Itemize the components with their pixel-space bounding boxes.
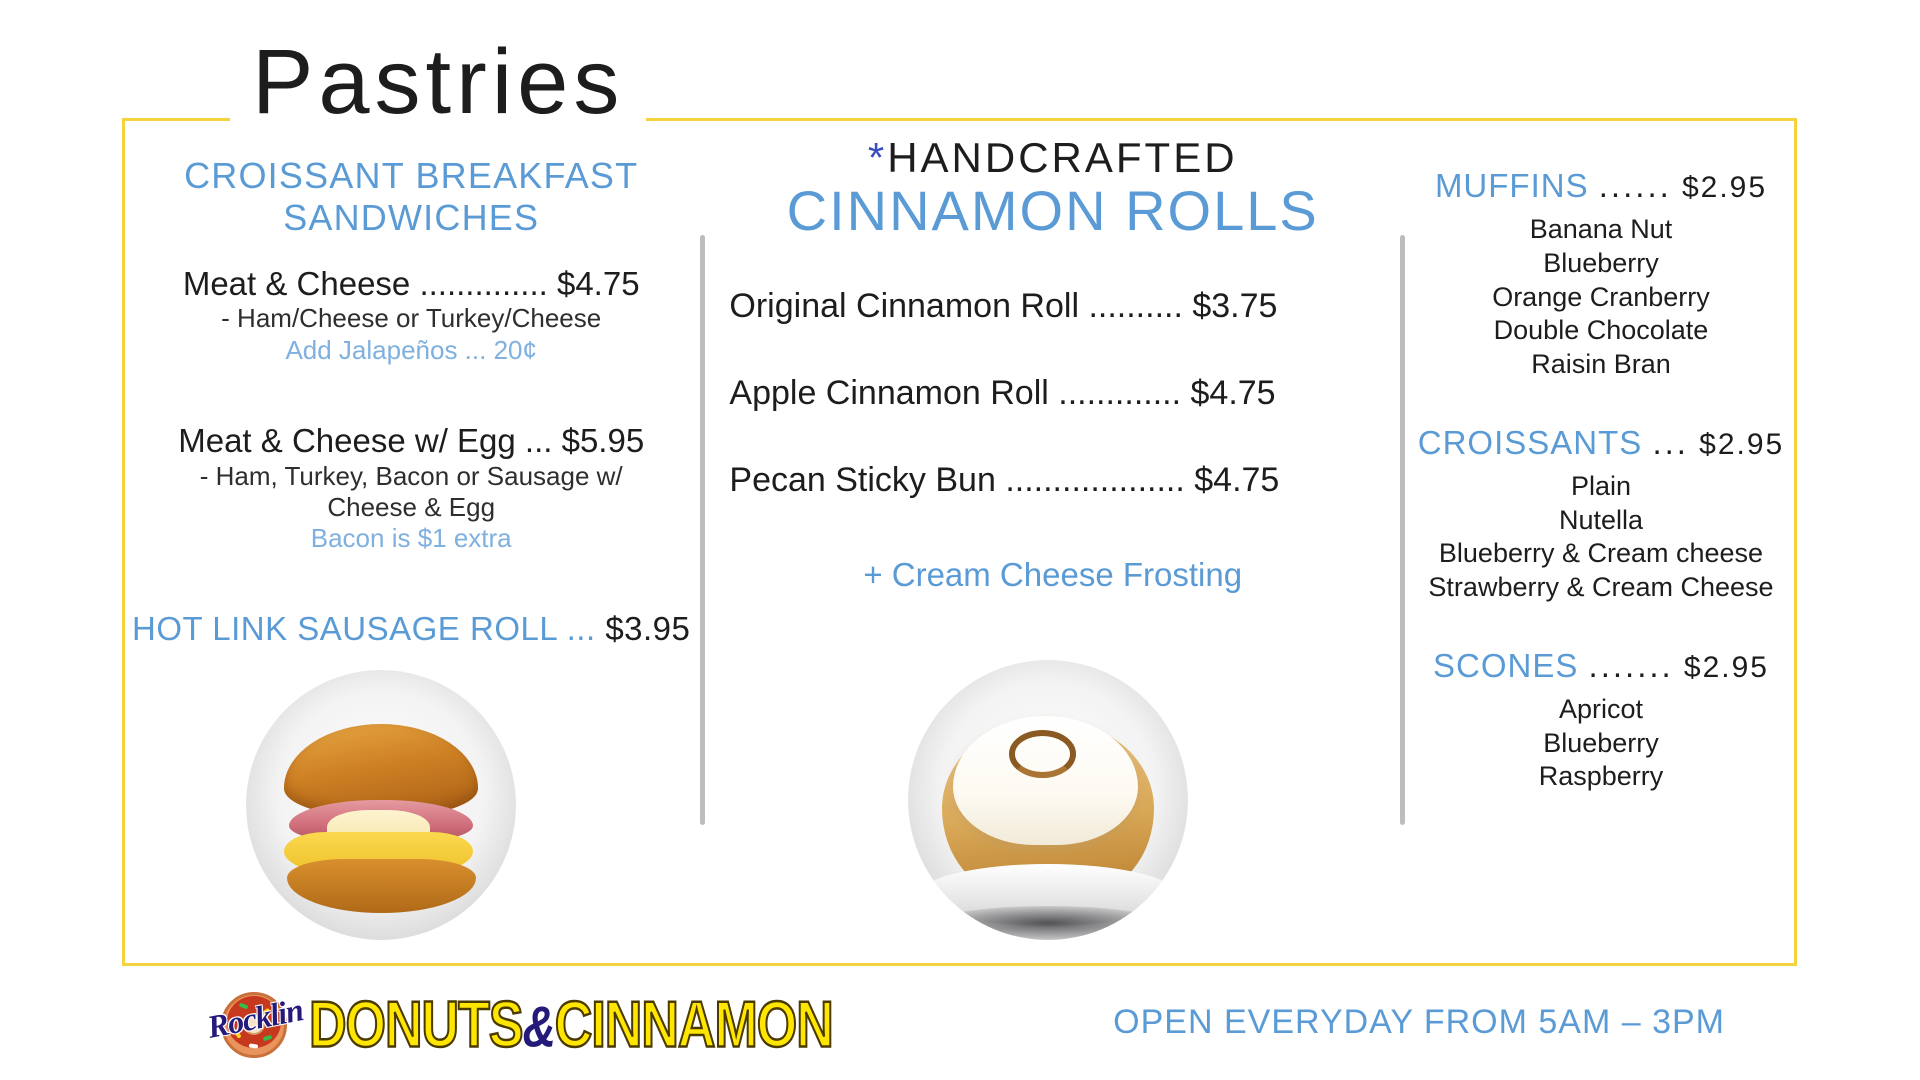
croissants-dots: ... (1652, 424, 1689, 461)
list-item: Banana Nut (1415, 213, 1787, 247)
heading-line-1: CROISSANT BREAKFAST (132, 155, 690, 197)
menu-item-bacon-extra-note: Bacon is $1 extra (132, 523, 690, 554)
cinnamon-roll-photo (908, 660, 1188, 940)
croissant-sandwich-photo (246, 670, 516, 940)
list-item: Strawberry & Cream Cheese (1415, 571, 1787, 605)
menu-item-meat-cheese: Meat & Cheese .............. $4.75 (132, 265, 690, 304)
section-heading-scones: SCONES ....... $2.95 (1415, 647, 1787, 685)
roll-shadow-shape (936, 906, 1160, 940)
donut-icon: Rocklin (205, 986, 301, 1064)
menu-item-original-cinnamon-roll: Original Cinnamon Roll .......... $3.75 (721, 288, 1384, 325)
brand-wordmark: DONUTS&CINNAMON (309, 988, 833, 1063)
menu-item-meat-cheese-sub: - Ham/Cheese or Turkey/Cheese (132, 303, 690, 334)
croissants-price: $2.95 (1699, 428, 1784, 461)
spacer (132, 366, 690, 422)
muffins-price: $2.95 (1682, 171, 1767, 204)
croissants-flavor-list: Plain Nutella Blueberry & Cream cheese S… (1415, 470, 1787, 605)
section-heading-croissants: CROISSANTS ... $2.95 (1415, 424, 1787, 462)
list-item: Blueberry & Cream cheese (1415, 537, 1787, 571)
muffins-label: MUFFINS (1435, 167, 1589, 204)
list-item: Apricot (1415, 693, 1787, 727)
list-item: Raisin Bran (1415, 348, 1787, 382)
section-heading-cinnamon-rolls: CINNAMON ROLLS (715, 181, 1390, 241)
scones-price: $2.95 (1684, 651, 1769, 684)
scones-label: SCONES (1433, 647, 1578, 684)
menu-item-meat-cheese-egg: Meat & Cheese w/ Egg ... $5.95 (132, 422, 690, 461)
brand-ampersand: & (523, 994, 555, 1059)
left-items: Meat & Cheese .............. $4.75 - Ham… (132, 265, 690, 649)
handcrafted-label: HANDCRAFTED (887, 134, 1237, 181)
column-muffins-croissants-scones: MUFFINS ...... $2.95 Banana Nut Blueberr… (1405, 125, 1797, 965)
list-item: Orange Cranberry (1415, 281, 1787, 315)
page-title: Pastries (230, 36, 646, 128)
brand-cinnamon: CINNAMON (555, 989, 833, 1062)
footer: Rocklin DONUTS&CINNAMON OPEN EVERYDAY FR… (0, 975, 1920, 1080)
muffins-dots: ...... (1599, 167, 1672, 204)
menu-item-pecan-sticky-bun: Pecan Sticky Bun ................... $4.… (721, 462, 1384, 499)
list-item: Double Chocolate (1415, 314, 1787, 348)
asterisk-icon: * (868, 134, 887, 181)
menu-item-add-jalapenos-note: Add Jalapeños ... 20¢ (132, 335, 690, 366)
spacer (132, 554, 690, 610)
list-item: Blueberry (1415, 247, 1787, 281)
menu-item-meat-cheese-egg-sub-1: - Ham, Turkey, Bacon or Sausage w/ (132, 461, 690, 492)
menu-item-meat-cheese-egg-sub-2: Cheese & Egg (132, 492, 690, 523)
brand-donuts: DONUTS (309, 989, 523, 1062)
croissants-label: CROISSANTS (1418, 424, 1643, 461)
muffins-flavor-list: Banana Nut Blueberry Orange Cranberry Do… (1415, 213, 1787, 382)
heading-line-2: SANDWICHES (132, 197, 690, 239)
brand-logo: Rocklin DONUTS&CINNAMON (205, 985, 833, 1065)
hot-link-price: $3.95 (605, 610, 690, 647)
scones-flavor-list: Apricot Blueberry Raspberry (1415, 693, 1787, 794)
spacer (721, 412, 1384, 462)
store-hours: OPEN EVERYDAY FROM 5AM – 3PM (1113, 1003, 1725, 1042)
list-item: Nutella (1415, 504, 1787, 538)
hot-link-label: HOT LINK SAUSAGE ROLL ... (132, 610, 596, 647)
list-item: Blueberry (1415, 727, 1787, 761)
cream-cheese-frosting-note: + Cream Cheese Frosting (721, 556, 1384, 594)
center-items: Original Cinnamon Roll .......... $3.75 … (715, 288, 1390, 594)
menu-item-apple-cinnamon-roll: Apple Cinnamon Roll ............. $4.75 (721, 375, 1384, 412)
scones-dots: ....... (1589, 647, 1674, 684)
section-heading-muffins: MUFFINS ...... $2.95 (1415, 167, 1787, 205)
list-item: Plain (1415, 470, 1787, 504)
spacer (721, 325, 1384, 375)
list-item: Raspberry (1415, 760, 1787, 794)
section-heading-handcrafted: *HANDCRAFTED (715, 135, 1390, 181)
section-heading-croissant-sandwiches: CROISSANT BREAKFAST SANDWICHES (132, 155, 690, 239)
menu-item-hot-link-sausage-roll: HOT LINK SAUSAGE ROLL ... $3.95 (132, 610, 690, 648)
swirl-shape (1009, 730, 1076, 778)
